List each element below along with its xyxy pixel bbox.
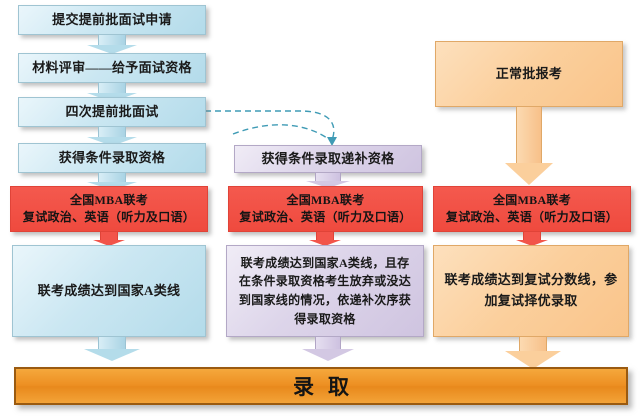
arrow-c1-6 [75,337,149,361]
step-four-interviews[interactable]: 四次提前批面试 [18,97,206,127]
step-national-exam-c3[interactable]: 全国MBA联考 复试政治、英语（听力及口语） [433,186,631,232]
step-submit-application[interactable]: 提交提前批面试申请 [18,5,206,35]
arrow-c1-5 [92,232,126,246]
step-score-above-a-line[interactable]: 联考成绩达到国家A类线 [12,245,206,337]
step-label: 联考成绩达到复试分数线，参加复试择优录取 [434,270,628,312]
dashed-arrow-interview-to-waitlist [205,111,334,140]
step-label: 四次提前批面试 [19,103,205,122]
arrow-c2-3 [292,337,364,361]
step-material-review[interactable]: 材料评审——给予面试资格 [18,53,206,83]
step-waitlist-qualification[interactable]: 获得条件录取递补资格 [234,145,422,173]
step-label: 提交提前批面试申请 [19,11,205,30]
step-label: 正常批报考 [436,65,622,84]
step-label: 全国MBA联考 复试政治、英语（听力及口语） [229,192,422,227]
step-national-exam-c2[interactable]: 全国MBA联考 复试政治、英语（听力及口语） [228,186,423,232]
step-waitlist-detail[interactable]: 联考成绩达到国家A类线，且存在条件录取资格考生放弃或没达到国家线的情况，依递补次… [226,245,424,337]
step-retest-admission[interactable]: 联考成绩达到复试分数线，参加复试择优录取 [433,245,629,337]
step-normal-application[interactable]: 正常批报考 [435,41,623,107]
step-conditional-admission[interactable]: 获得条件录取资格 [18,143,206,173]
step-label: 获得条件录取资格 [19,149,205,168]
arrow-c3-1 [493,107,565,185]
arrow-c2-2 [308,232,342,246]
step-label: 全国MBA联考 复试政治、英语（听力及口语） [11,192,207,227]
step-label: 联考成绩达到国家A类线 [13,282,205,301]
arrow-c1-1 [75,35,149,54]
step-label: 获得条件录取递补资格 [235,150,421,169]
result-admitted-bar[interactable]: 录取 [14,367,628,405]
step-national-exam-c1[interactable]: 全国MBA联考 复试政治、英语（听力及口语） [10,186,208,232]
arrow-c3-2 [515,232,549,246]
step-label: 材料评审——给予面试资格 [19,59,205,78]
step-label: 全国MBA联考 复试政治、英语（听力及口语） [434,192,630,227]
dashed-arrow-qualify-to-waitlist [233,125,330,140]
step-label: 联考成绩达到国家A类线，且存在条件录取资格考生放弃或没达到国家线的情况，依递补次… [227,254,423,328]
arrow-c3-3 [497,337,569,369]
flowchart-canvas: 提交提前批面试申请 材料评审——给予面试资格 四次提前批面试 获得条件录取资格 … [0,0,641,416]
result-label: 录取 [279,371,363,401]
